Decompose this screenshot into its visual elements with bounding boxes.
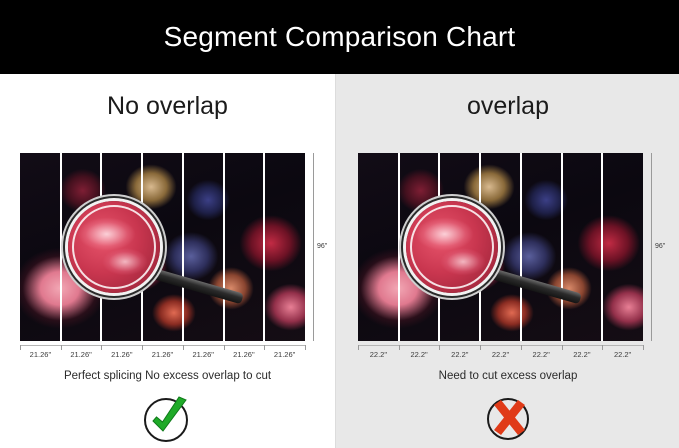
- axis-tick: [20, 345, 21, 350]
- segment-width-label: 21.26": [192, 350, 213, 359]
- axis-tick: [602, 345, 603, 350]
- check-mark-icon: [141, 392, 195, 446]
- segment-width-label: 22.2": [573, 350, 590, 359]
- panel-heading-no-overlap: No overlap: [0, 92, 335, 121]
- verdict-overlap: [336, 392, 679, 446]
- header-bar: Segment Comparison Chart: [0, 0, 679, 74]
- height-tick-line: [651, 153, 652, 341]
- axis-tick: [101, 345, 102, 350]
- axis-tick: [399, 345, 400, 350]
- axis-tick: [142, 345, 143, 350]
- panel-heading-overlap: overlap: [336, 92, 679, 121]
- panel-no-overlap: No overlap: [0, 74, 335, 448]
- axis-tick: [643, 345, 644, 350]
- segment-width-label: 22.2": [410, 350, 427, 359]
- segment-width-label: 21.26": [233, 350, 254, 359]
- page-title: Segment Comparison Chart: [164, 21, 516, 53]
- axis-tick: [521, 345, 522, 350]
- height-label-overlap: 96": [655, 243, 665, 250]
- verdict-no-overlap: [0, 392, 335, 446]
- axis-tick: [439, 345, 440, 350]
- segment-width-label: 21.26": [30, 350, 51, 359]
- axis-tick: [480, 345, 481, 350]
- axis-tick: [264, 345, 265, 350]
- axis-tick: [305, 345, 306, 350]
- segment-width-label: 22.2": [614, 350, 631, 359]
- caption-overlap: Need to cut excess overlap: [336, 370, 679, 382]
- cross-mark-icon: [481, 392, 535, 446]
- mural-no-overlap: [20, 153, 305, 341]
- segment-width-label: 22.2": [451, 350, 468, 359]
- page-root: Segment Comparison Chart No overlap: [0, 0, 679, 448]
- axis-tick: [224, 345, 225, 350]
- axis-tick: [183, 345, 184, 350]
- axis-tick: [358, 345, 359, 350]
- segment-width-label: 21.26": [152, 350, 173, 359]
- segment-width-label: 21.26": [274, 350, 295, 359]
- segment-width-label: 21.26": [70, 350, 91, 359]
- mural-overlap: [358, 153, 643, 341]
- axis-line: [358, 345, 643, 346]
- height-tick-line: [313, 153, 314, 341]
- segment-width-label: 22.2": [370, 350, 387, 359]
- axis-line: [20, 345, 305, 346]
- axis-tick: [562, 345, 563, 350]
- segment-width-label: 22.2": [492, 350, 509, 359]
- height-label-no-overlap: 96": [317, 243, 327, 250]
- segment-width-label: 21.26": [111, 350, 132, 359]
- floral-mural-image: [20, 153, 305, 341]
- floral-mural-image: [358, 153, 643, 341]
- axis-tick: [61, 345, 62, 350]
- comparison-panels: No overlap: [0, 74, 679, 448]
- panel-overlap: overlap 96": [335, 74, 679, 448]
- caption-no-overlap: Perfect splicing No excess overlap to cu…: [0, 370, 335, 382]
- segment-width-label: 22.2": [533, 350, 550, 359]
